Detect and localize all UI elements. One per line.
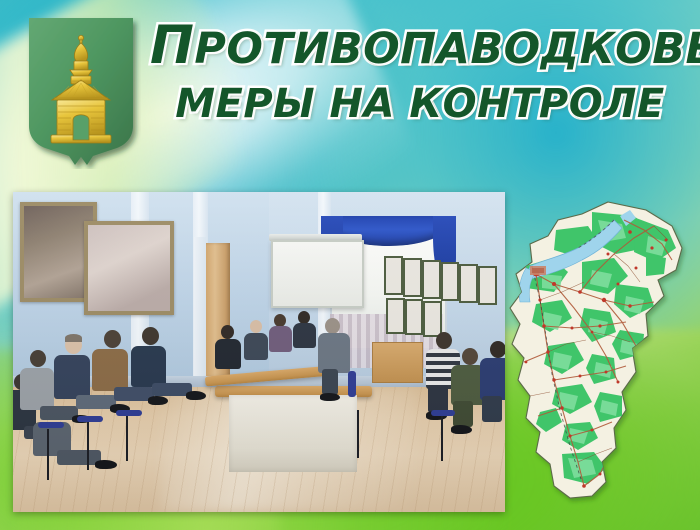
title-line-1-initial: П xyxy=(150,15,194,76)
photo-projection-screen xyxy=(271,240,364,308)
title-line-1-rest: РОТИВОПАВОДКОВЫЕ xyxy=(194,24,700,74)
photo-chair xyxy=(348,371,356,397)
photo-framed-picture xyxy=(84,221,173,315)
photo-cabinet xyxy=(372,342,423,382)
title-line-2: МЕРЫ НА КОНТРОЛЕ xyxy=(150,84,690,124)
photo-picture-canvas xyxy=(88,225,169,311)
photo-chair xyxy=(38,422,64,428)
banner-title: ПРОТИВОПАВОДКОВЫЕ МЕРЫ НА КОНТРОЛЕ xyxy=(150,20,690,124)
title-line-1: ПРОТИВОПАВОДКОВЫЕ xyxy=(150,20,690,72)
photo-gallery-frame xyxy=(422,260,441,299)
coat-of-arms xyxy=(21,14,141,169)
photo-chair-leg xyxy=(357,410,359,458)
photo-gallery-frame xyxy=(423,301,442,337)
photo-gallery-frame xyxy=(403,258,422,297)
meeting-room-photograph xyxy=(13,192,505,512)
photo-chair-leg xyxy=(441,416,443,461)
photo-gallery-frame xyxy=(384,256,403,295)
photo-chair xyxy=(77,416,103,422)
photo-chair xyxy=(431,410,455,416)
photo-picture-canvas xyxy=(24,206,93,299)
photo-gallery-frame xyxy=(459,264,478,303)
photo-table-body xyxy=(229,395,357,472)
photo-gallery-frame xyxy=(441,262,460,301)
photo-gallery-frame xyxy=(478,266,497,305)
photo-chair-leg xyxy=(87,422,89,470)
photo-gallery-frame xyxy=(386,298,405,334)
photo-chair-leg xyxy=(126,416,128,461)
district-map xyxy=(496,196,700,516)
photo-chair-leg xyxy=(47,429,49,480)
photo-chair xyxy=(116,410,142,416)
photo-door-jamb xyxy=(194,237,206,391)
photo-gallery-frame xyxy=(405,299,424,335)
flood-measures-banner: ПРОТИВОПАВОДКОВЫЕ МЕРЫ НА КОНТРОЛЕ xyxy=(0,0,700,530)
